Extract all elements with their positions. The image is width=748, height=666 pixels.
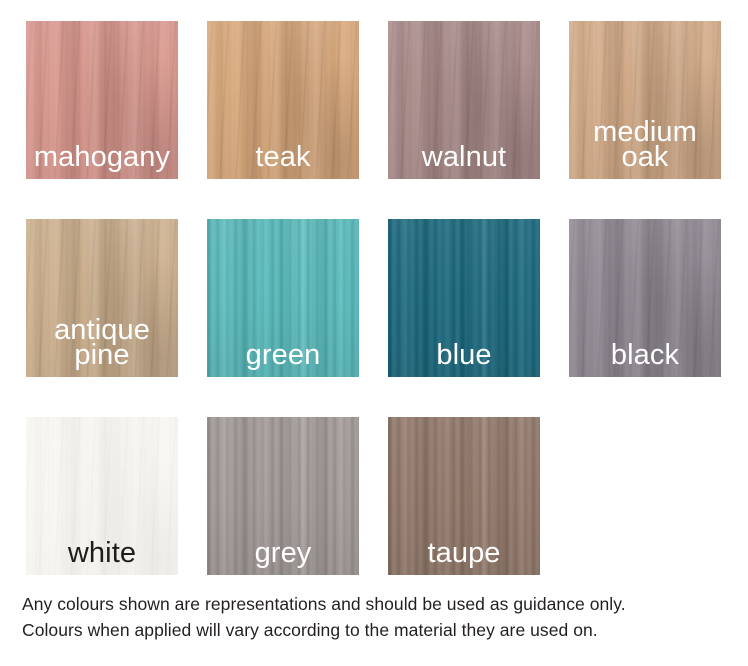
swatch-label: blue <box>388 343 540 369</box>
swatch-label: antique pine <box>26 318 178 369</box>
swatch-label: mahogany <box>26 145 178 171</box>
swatch-taupe[interactable]: taupe <box>388 417 540 575</box>
swatch-placeholder-empty <box>569 417 721 575</box>
swatch-label: black <box>569 343 721 369</box>
swatch-label: teak <box>207 145 359 171</box>
swatch-green[interactable]: green <box>207 219 359 377</box>
swatch-walnut[interactable]: walnut <box>388 21 540 179</box>
colour-swatch-chart: mahogany teak walnut medium oak <box>0 0 748 666</box>
swatch-label: walnut <box>388 145 540 171</box>
swatch-label: grey <box>207 541 359 567</box>
swatch-blue[interactable]: blue <box>388 219 540 377</box>
swatch-medium-oak[interactable]: medium oak <box>569 21 721 179</box>
swatch-black[interactable]: black <box>569 219 721 377</box>
swatch-mahogany[interactable]: mahogany <box>26 21 178 179</box>
swatch-white[interactable]: white <box>26 417 178 575</box>
swatch-grey[interactable]: grey <box>207 417 359 575</box>
swatch-label: white <box>26 541 178 567</box>
swatch-grid: mahogany teak walnut medium oak <box>26 21 722 575</box>
caption-line-1: Any colours shown are representations an… <box>22 592 732 618</box>
disclaimer-caption: Any colours shown are representations an… <box>22 592 732 644</box>
swatch-teak[interactable]: teak <box>207 21 359 179</box>
swatch-label: taupe <box>388 541 540 567</box>
swatch-label: medium oak <box>569 120 721 171</box>
swatch-label: green <box>207 343 359 369</box>
caption-line-2: Colours when applied will vary according… <box>22 618 732 644</box>
swatch-antique-pine[interactable]: antique pine <box>26 219 178 377</box>
